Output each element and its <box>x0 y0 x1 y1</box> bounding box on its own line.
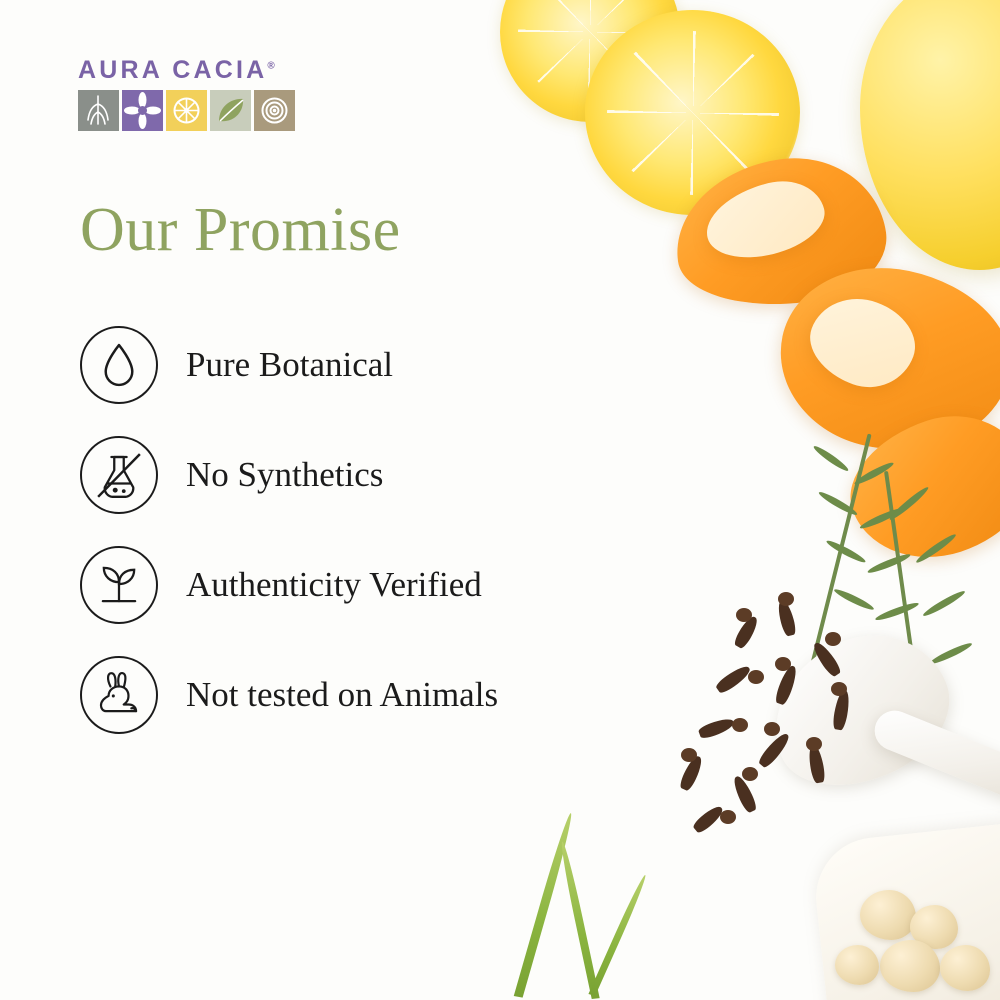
promise-label: Not tested on Animals <box>186 675 498 715</box>
page-title: Our Promise <box>80 195 401 266</box>
roots-tile <box>78 90 119 131</box>
leaf-tile <box>210 90 251 131</box>
no-synthetics-flask-icon <box>80 436 158 514</box>
spoon-bowl <box>750 611 969 808</box>
citrus-slice-tile <box>166 90 207 131</box>
flower-tile <box>122 90 163 131</box>
promise-label: No Synthetics <box>186 455 383 495</box>
spiral-tile <box>254 90 295 131</box>
list-item: No Synthetics <box>80 420 550 530</box>
sprout-leaf-icon <box>80 546 158 624</box>
list-item: Authenticity Verified <box>80 530 550 640</box>
promise-panel: AURA CACIA® <box>0 0 560 1000</box>
brand-wordmark: AURA CACIA® <box>78 58 275 83</box>
list-item: Not tested on Animals <box>80 640 550 750</box>
promo-card: AURA CACIA® <box>0 0 1000 1000</box>
promise-label: Pure Botanical <box>186 345 393 385</box>
droplet-icon <box>80 326 158 404</box>
registered-mark-icon: ® <box>267 61 274 72</box>
list-item: Pure Botanical <box>80 310 550 420</box>
brand-logo[interactable]: AURA CACIA® <box>78 58 348 131</box>
promise-label: Authenticity Verified <box>186 565 482 605</box>
rabbit-icon <box>80 656 158 734</box>
promise-list: Pure Botanical No Synthetic <box>80 310 550 750</box>
logo-tile-strip <box>78 90 348 131</box>
brand-name: AURA CACIA <box>78 56 267 84</box>
